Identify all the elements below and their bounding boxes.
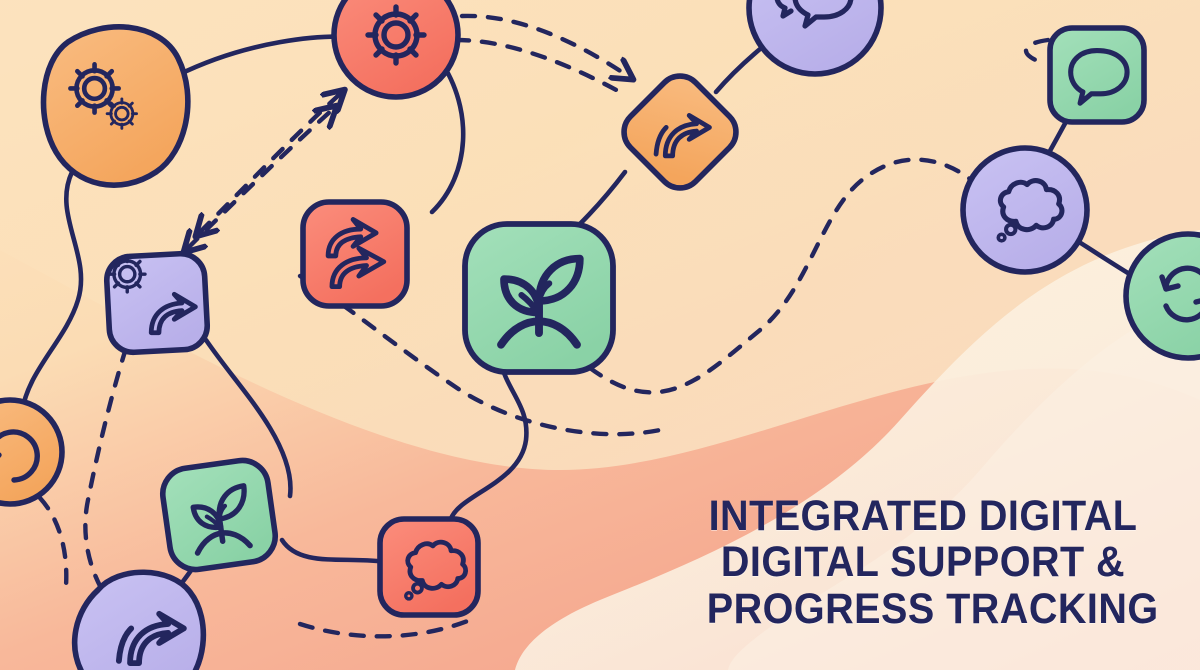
node-shape-rounded-square bbox=[303, 202, 407, 306]
node-gear-circle[interactable] bbox=[334, 0, 458, 97]
node-gears-blob[interactable] bbox=[44, 27, 188, 185]
page-title-line-3: PROGRESS TRACKING bbox=[707, 586, 1139, 632]
page-title: INTEGRATED DIGITAL DIGITAL SUPPORT & PRO… bbox=[707, 493, 1139, 632]
node-shape-circle bbox=[963, 148, 1087, 272]
node-sprout-card-small[interactable] bbox=[159, 457, 278, 573]
node-thought-card[interactable] bbox=[380, 519, 478, 615]
node-sprout-card-large[interactable] bbox=[465, 224, 613, 372]
node-message-card[interactable] bbox=[1050, 28, 1144, 122]
illustration-canvas: INTEGRATED DIGITAL DIGITAL SUPPORT & PRO… bbox=[0, 0, 1200, 670]
page-title-line-2: DIGITAL SUPPORT & bbox=[707, 539, 1139, 585]
node-thought-circle[interactable] bbox=[963, 148, 1087, 272]
node-shape-rounded-square bbox=[1050, 28, 1144, 122]
node-gear-share-card[interactable] bbox=[106, 253, 209, 354]
page-title-line-1: INTEGRATED DIGITAL bbox=[707, 493, 1139, 539]
node-double-arrow-card[interactable] bbox=[303, 202, 407, 306]
